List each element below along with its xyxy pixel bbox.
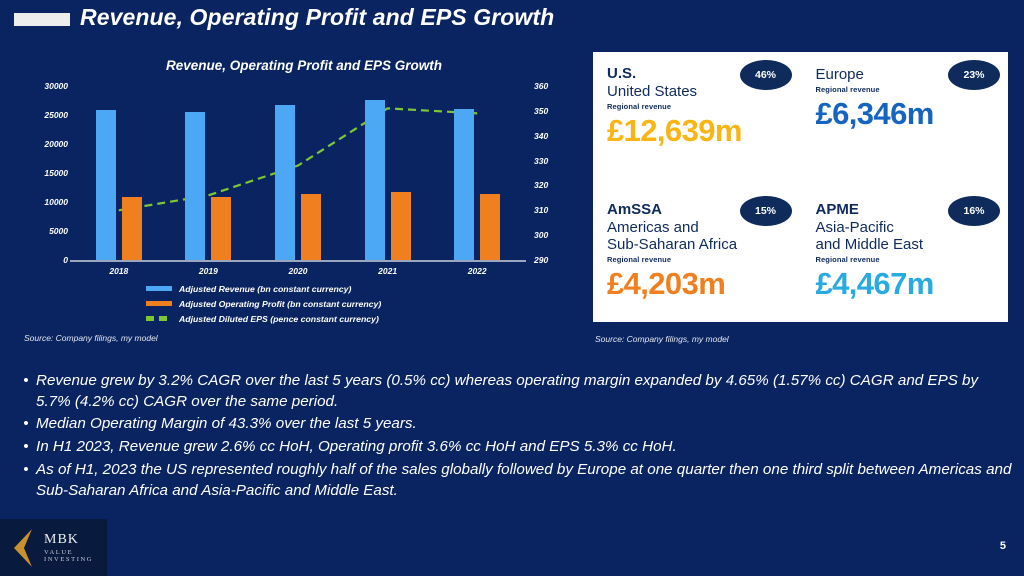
y-axis-tick-right: 300 <box>534 230 548 240</box>
legend-color-swatch-icon <box>146 286 172 291</box>
bullet-text: Median Operating Margin of 43.3% over th… <box>36 413 1012 435</box>
bullet-marker-icon: • <box>16 436 36 458</box>
bar-revenue <box>365 100 385 260</box>
legend-label: Adjusted Operating Profit (bn constant c… <box>179 299 381 309</box>
chart-panel: Revenue, Operating Profit and EPS Growth… <box>6 50 572 346</box>
bullet-marker-icon: • <box>16 459 36 501</box>
x-axis-tick-label: 2020 <box>289 266 308 276</box>
bar-revenue <box>96 110 116 260</box>
legend-label: Adjusted Revenue (bn constant currency) <box>179 284 351 294</box>
card-share-badge: 15% <box>740 196 792 226</box>
card-share-badge: 16% <box>948 196 1000 226</box>
y-axis-tick-right: 310 <box>534 205 548 215</box>
bar-revenue <box>275 105 295 260</box>
chart-title: Revenue, Operating Profit and EPS Growth <box>114 58 494 73</box>
y-axis-tick-left: 10000 <box>44 197 68 207</box>
x-axis-tick-label: 2019 <box>199 266 218 276</box>
bar-operating-profit <box>122 197 142 260</box>
chevron-logo-icon <box>10 529 44 567</box>
y-axis-tick-right: 360 <box>534 81 548 91</box>
regional-revenue-card[interactable]: APMEAsia-Pacificand Middle EastRegional … <box>802 188 1009 322</box>
bar-operating-profit <box>391 192 411 260</box>
regional-revenue-card[interactable]: EuropeRegional revenue£6,346m23% <box>802 52 1009 186</box>
regional-revenue-cards: U.S.United StatesRegional revenue£12,639… <box>593 52 1008 322</box>
bullet-item: •Median Operating Margin of 43.3% over t… <box>16 413 1012 435</box>
legend-item[interactable]: Adjusted Operating Profit (bn constant c… <box>146 297 381 310</box>
bullet-text: As of H1, 2023 the US represented roughl… <box>36 459 1012 501</box>
bar-revenue <box>185 112 205 260</box>
bullet-item: •Revenue grew by 3.2% CAGR over the last… <box>16 370 1012 412</box>
bullet-item: •In H1 2023, Revenue grew 2.6% cc HoH, O… <box>16 436 1012 458</box>
x-axis-tick-label: 2018 <box>109 266 128 276</box>
card-subtitle: Regional revenue <box>607 102 790 111</box>
card-revenue-value: £12,639m <box>607 115 790 146</box>
y-axis-tick-right: 290 <box>534 255 548 265</box>
logo-name: MBK <box>44 532 107 548</box>
legend-color-swatch-icon <box>146 301 172 306</box>
bar-operating-profit <box>301 194 321 260</box>
logo-text-block: MBK VALUE INVESTING <box>44 532 107 563</box>
logo-tagline: VALUE INVESTING <box>44 549 107 563</box>
chart-plot-area: 0500010000150002000025000300002903003103… <box>74 86 522 260</box>
y-axis-tick-left: 30000 <box>44 81 68 91</box>
card-subtitle: Regional revenue <box>816 255 999 264</box>
bullet-text: In H1 2023, Revenue grew 2.6% cc HoH, Op… <box>36 436 1012 458</box>
page-number: 5 <box>1000 540 1006 552</box>
legend-dash-swatch-icon <box>146 316 172 321</box>
y-axis-tick-left: 5000 <box>49 226 68 236</box>
chart-legend: Adjusted Revenue (bn constant currency)A… <box>146 282 381 327</box>
y-axis-tick-right: 340 <box>534 131 548 141</box>
bar-operating-profit <box>480 194 500 260</box>
commentary-bullets: •Revenue grew by 3.2% CAGR over the last… <box>16 370 1012 502</box>
x-axis-tick-label: 2022 <box>468 266 487 276</box>
legend-item[interactable]: Adjusted Diluted EPS (pence constant cur… <box>146 312 381 325</box>
card-region-name: and Middle East <box>816 236 999 253</box>
bullet-marker-icon: • <box>16 370 36 412</box>
header-accent-bar <box>14 13 70 26</box>
y-axis-tick-left: 20000 <box>44 139 68 149</box>
page-title: Revenue, Operating Profit and EPS Growth <box>80 4 554 31</box>
regional-revenue-card[interactable]: AmSSAAmericas andSub-Saharan AfricaRegio… <box>593 188 800 322</box>
legend-item[interactable]: Adjusted Revenue (bn constant currency) <box>146 282 381 295</box>
card-revenue-value: £4,203m <box>607 268 790 299</box>
card-region-name: Sub-Saharan Africa <box>607 236 790 253</box>
card-revenue-value: £4,467m <box>816 268 999 299</box>
slide-header: Revenue, Operating Profit and EPS Growth <box>0 0 1024 44</box>
card-subtitle: Regional revenue <box>607 255 790 264</box>
y-axis-tick-right: 320 <box>534 180 548 190</box>
x-axis-line <box>70 260 526 262</box>
brand-logo: MBK VALUE INVESTING <box>0 519 107 576</box>
y-axis-tick-left: 0 <box>63 255 68 265</box>
legend-label: Adjusted Diluted EPS (pence constant cur… <box>179 314 379 324</box>
eps-trend-line <box>119 108 477 210</box>
source-note-chart: Source: Company filings, my model <box>24 333 158 343</box>
card-revenue-value: £6,346m <box>816 98 999 129</box>
card-share-badge: 46% <box>740 60 792 90</box>
y-axis-tick-right: 350 <box>534 106 548 116</box>
y-axis-tick-left: 25000 <box>44 110 68 120</box>
bullet-item: •As of H1, 2023 the US represented rough… <box>16 459 1012 501</box>
y-axis-tick-left: 15000 <box>44 168 68 178</box>
bullet-marker-icon: • <box>16 413 36 435</box>
bar-revenue <box>454 109 474 260</box>
bar-operating-profit <box>211 197 231 260</box>
card-share-badge: 23% <box>948 60 1000 90</box>
source-note-cards: Source: Company filings, my model <box>595 334 729 344</box>
bullet-text: Revenue grew by 3.2% CAGR over the last … <box>36 370 1012 412</box>
x-axis-tick-label: 2021 <box>378 266 397 276</box>
regional-revenue-card[interactable]: U.S.United StatesRegional revenue£12,639… <box>593 52 800 186</box>
y-axis-tick-right: 330 <box>534 156 548 166</box>
